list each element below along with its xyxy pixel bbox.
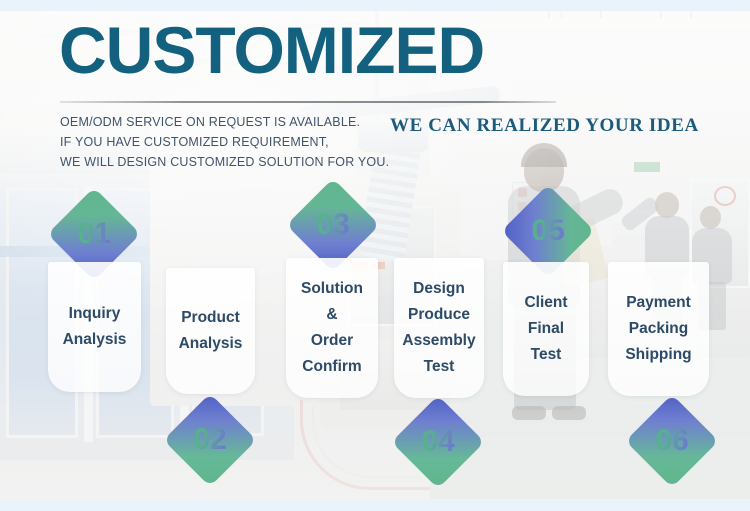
customized-service-banner: CUSTOMIZED OEM/ODM SERVICE ON REQUEST IS… [0,0,750,511]
step-card-02-line-2: Analysis [179,331,243,357]
banner-content: CUSTOMIZED OEM/ODM SERVICE ON REQUEST IS… [0,0,750,511]
title-divider [60,101,556,103]
description-line-3: WE WILL DESIGN CUSTOMIZED SOLUTION FOR Y… [60,152,389,172]
step-card-04-line-2: Produce [408,302,470,328]
step-card-06-line-2: Packing [629,316,688,342]
step-number-01: 01 [65,205,123,263]
step-card-06: Payment Packing Shipping [608,262,709,396]
step-number-05: 05 [519,202,577,260]
step-card-03: Solution & Order Confirm [286,258,378,398]
step-card-04: Design Produce Assembly Test [394,258,484,398]
step-card-03-line-2: & [326,302,337,328]
step-card-05-line-3: Test [531,342,562,368]
description-line-2: IF YOU HAVE CUSTOMIZED REQUIREMENT, [60,132,389,152]
step-card-04-line-3: Assembly [402,328,475,354]
step-card-02-line-1: Product [181,305,240,331]
step-card-02: Product Analysis [166,268,255,394]
step-card-01-line-1: Inquiry [69,301,121,327]
step-card-04-line-4: Test [424,354,455,380]
step-number-03: 03 [304,196,362,254]
step-number-06: 06 [643,412,701,470]
step-card-05-line-1: Client [524,290,567,316]
step-card-06-line-3: Shipping [625,342,691,368]
step-card-05: Client Final Test [503,262,589,396]
step-number-04: 04 [409,413,467,471]
step-badge-06: 06 [631,400,713,482]
step-card-01: Inquiry Analysis [48,262,141,392]
description-block: OEM/ODM SERVICE ON REQUEST IS AVAILABLE.… [60,112,389,172]
step-card-05-line-2: Final [528,316,564,342]
step-badge-04: 04 [397,401,479,483]
step-card-06-line-1: Payment [626,290,691,316]
step-card-01-line-2: Analysis [63,327,127,353]
step-card-04-line-1: Design [413,276,465,302]
step-card-03-line-3: Order [311,328,353,354]
step-number-02: 02 [181,411,239,469]
page-title: CUSTOMIZED [59,17,484,83]
step-badge-05: 05 [507,190,589,272]
step-badge-02: 02 [169,399,251,481]
bottom-edge-strip [0,499,750,511]
tagline: WE CAN REALIZED YOUR IDEA [390,115,699,137]
step-card-03-line-1: Solution [301,276,363,302]
top-edge-strip [0,0,750,11]
description-line-1: OEM/ODM SERVICE ON REQUEST IS AVAILABLE. [60,112,389,132]
step-card-03-line-4: Confirm [302,354,361,380]
step-badge-03: 03 [292,184,374,266]
